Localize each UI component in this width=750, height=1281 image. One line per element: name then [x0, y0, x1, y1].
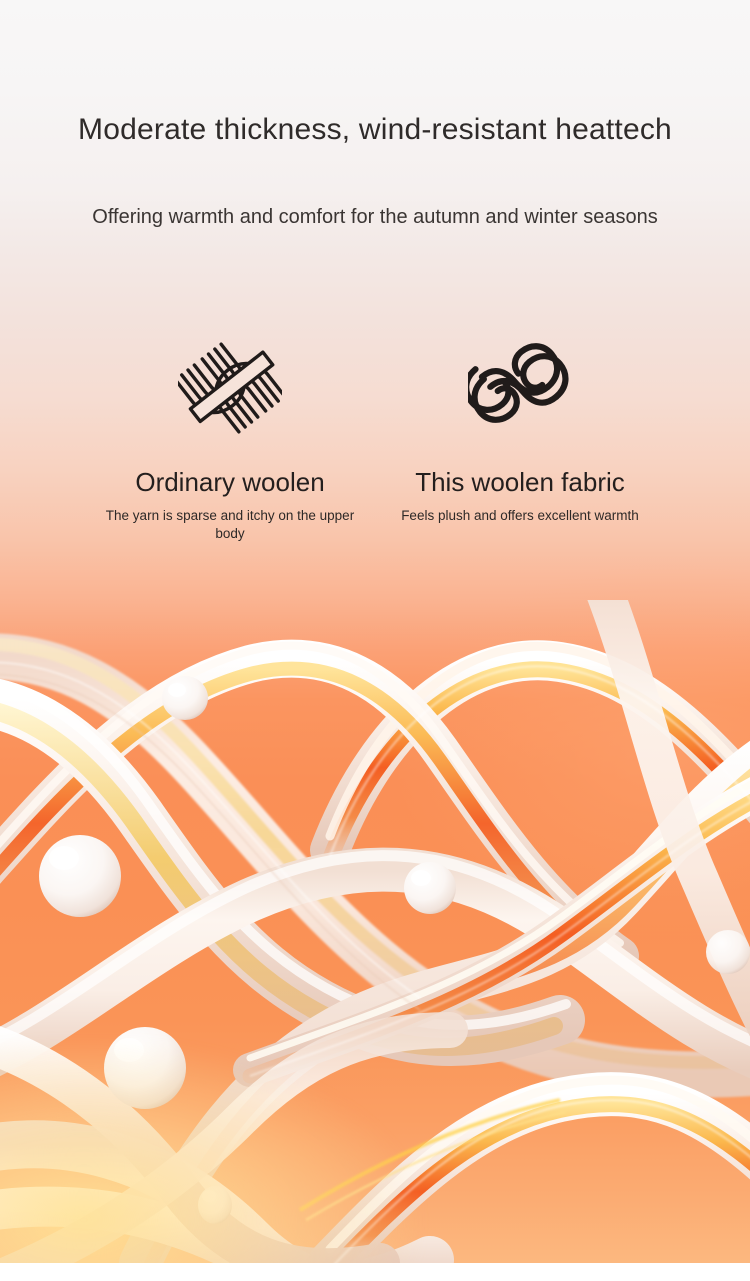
comparison-title: This woolen fabric: [415, 466, 625, 498]
bottom-white-strip: [0, 1263, 750, 1281]
yellow-glow: [0, 1040, 420, 1281]
comparison-description: Feels plush and offers excellent warmth: [401, 507, 639, 525]
comparison-title: Ordinary woolen: [135, 466, 324, 498]
page-subheadline: Offering warmth and comfort for the autu…: [0, 203, 750, 231]
comparison-item-ordinary: Ordinary woolen The yarn is sparse and i…: [85, 332, 375, 543]
yarn-spiral-icon: [465, 332, 575, 444]
yarn-skein-icon: [175, 332, 285, 444]
comparison-description: The yarn is sparse and itchy on the uppe…: [105, 507, 355, 543]
page-headline: Moderate thickness, wind-resistant heatt…: [0, 111, 750, 149]
comparison-item-this-fabric: This woolen fabric Feels plush and offer…: [375, 332, 665, 525]
comparison-section: Ordinary woolen The yarn is sparse and i…: [0, 332, 750, 562]
product-infographic-page: Moderate thickness, wind-resistant heatt…: [0, 0, 750, 1281]
